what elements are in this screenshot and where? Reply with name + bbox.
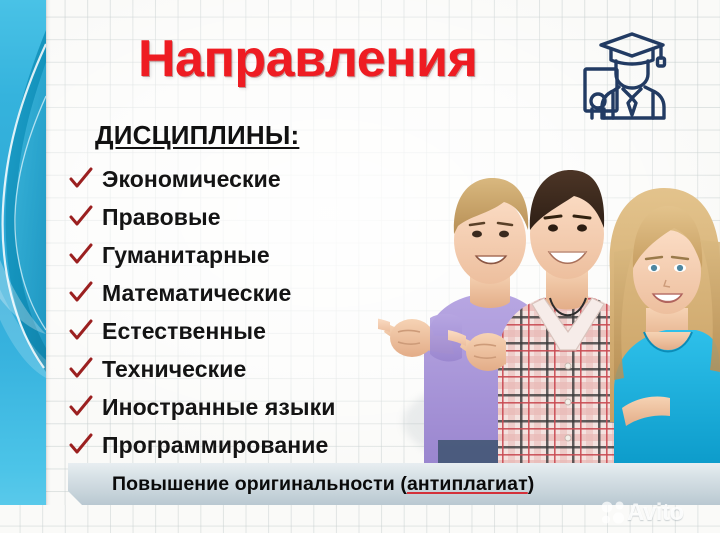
promo-banner: Повышение оригинальности (антиплагиат) — [68, 463, 720, 505]
check-mark-icon — [68, 204, 94, 230]
promo-banner-text: Повышение оригинальности (антиплагиат) — [112, 473, 534, 496]
blue-wave-strip — [0, 0, 46, 533]
banner-text-flagged: антиплагиат — [407, 473, 528, 495]
graduate-with-diploma-icon — [575, 27, 673, 123]
check-mark-icon — [68, 280, 94, 306]
check-mark-icon — [68, 432, 94, 458]
check-mark-icon — [68, 356, 94, 382]
check-mark-icon — [68, 394, 94, 420]
list-item-label: Естественные — [102, 318, 266, 345]
check-mark-icon — [68, 166, 94, 192]
page-title: Направления — [138, 33, 477, 85]
students-photo — [378, 122, 720, 464]
check-mark-icon — [68, 318, 94, 344]
poster-root: Направления — [0, 0, 720, 533]
list-item-label: Иностранные языки — [102, 394, 336, 421]
list-item-label: Технические — [102, 356, 246, 383]
check-mark-icon — [68, 242, 94, 268]
banner-text-after: ) — [528, 473, 535, 495]
banner-text-before: Повышение оригинальности ( — [112, 473, 407, 495]
list-item-label: Математические — [102, 280, 291, 307]
list-item-label: Правовые — [102, 204, 221, 231]
list-item-label: Экономические — [102, 166, 281, 193]
student-right — [610, 188, 720, 464]
list-item-label: Программирование — [102, 432, 328, 459]
disciplines-heading: ДИСЦИПЛИНЫ: — [95, 120, 299, 151]
bottom-grid-strip — [0, 505, 720, 533]
list-item-label: Гуманитарные — [102, 242, 270, 269]
